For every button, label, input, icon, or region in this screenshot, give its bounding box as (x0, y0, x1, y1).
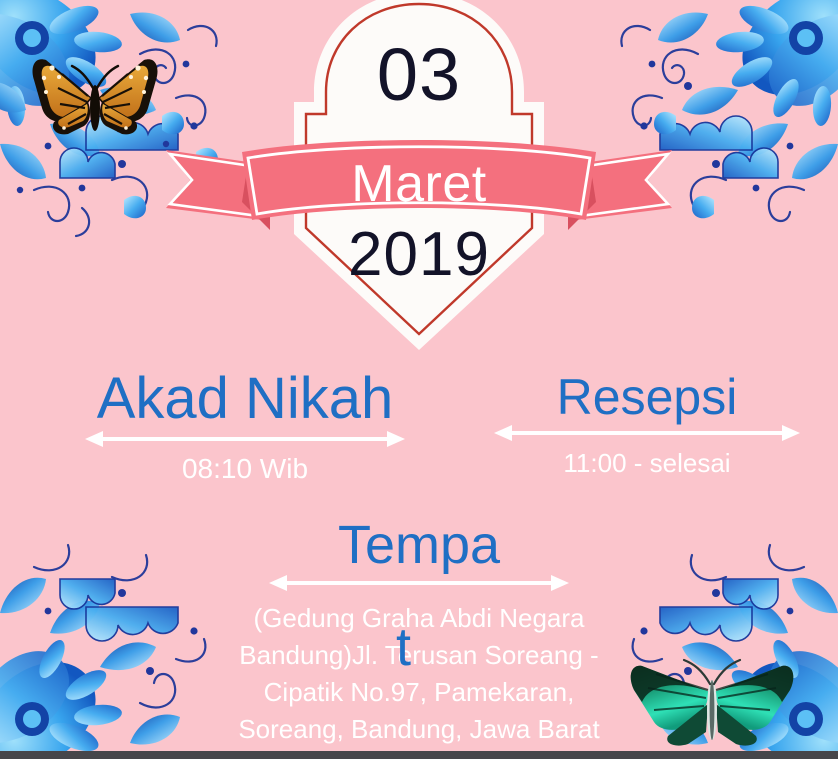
date-month: Maret (166, 156, 672, 212)
event-akad-nikah: Akad Nikah 08:10 Wib (50, 370, 440, 485)
venue-title-overflow-letter: t (396, 620, 411, 674)
divider-arrow-icon (85, 430, 405, 448)
venue-block: Tempa (Gedung Graha Abdi Negara Bandung)… (200, 518, 638, 748)
month-ribbon-banner: Maret (166, 134, 672, 238)
monarch-butterfly-icon (28, 52, 162, 149)
venue-address: (Gedung Graha Abdi Negara Bandung)Jl. Te… (200, 600, 638, 748)
wedding-invitation-card: 03 2019 Maret Akad Nikah 08:10 Wib (0, 0, 838, 759)
divider-arrow-icon (269, 574, 569, 592)
event-title: Akad Nikah (50, 370, 440, 428)
divider-arrow-icon (494, 424, 800, 442)
event-resepsi: Resepsi 11:00 - selesai (462, 372, 832, 478)
venue-title: Tempa (200, 518, 638, 572)
date-day: 03 (286, 38, 552, 112)
bottom-strip (0, 751, 838, 759)
event-time: 08:10 Wib (50, 454, 440, 485)
event-time: 11:00 - selesai (462, 449, 832, 478)
teal-butterfly-icon (628, 644, 796, 753)
event-title: Resepsi (462, 372, 832, 422)
